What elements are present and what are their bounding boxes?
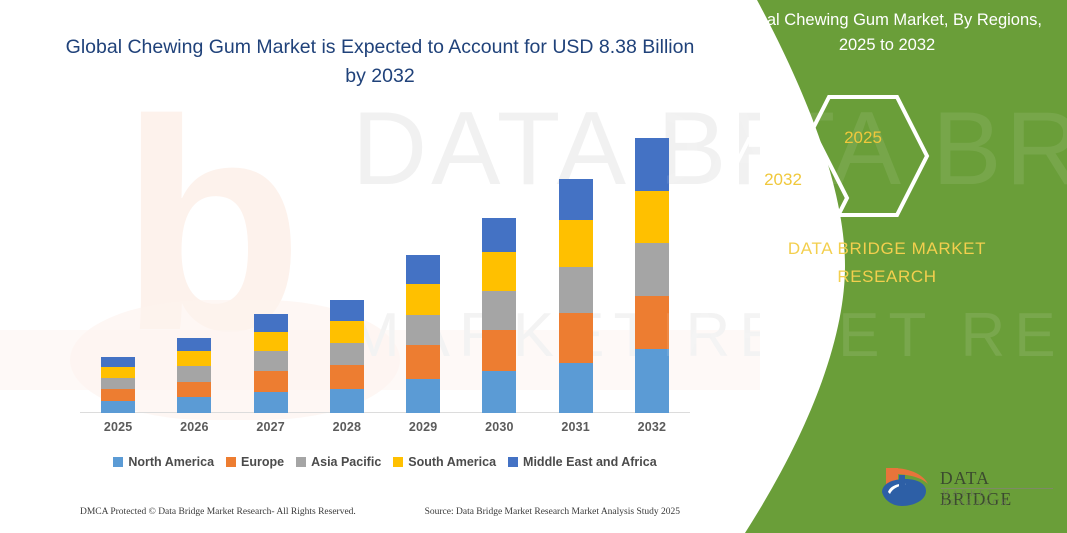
stacked-bar-2027 bbox=[254, 314, 288, 413]
page-title: Global Chewing Gum Market is Expected to… bbox=[60, 33, 700, 91]
bar-segment bbox=[254, 351, 288, 371]
stacked-bar-2032 bbox=[635, 138, 669, 413]
bar-segment bbox=[330, 300, 364, 321]
bar-column bbox=[83, 121, 153, 413]
logo-tagline: MARKET RESEARCH bbox=[942, 489, 1058, 507]
legend-label: Middle East and Africa bbox=[523, 455, 657, 469]
legend-item[interactable]: South America bbox=[393, 455, 496, 469]
bar-column bbox=[312, 121, 382, 413]
bar-segment bbox=[482, 252, 516, 291]
legend-item[interactable]: North America bbox=[113, 455, 214, 469]
x-axis-label-2031: 2031 bbox=[541, 420, 611, 442]
bar-segment bbox=[101, 357, 135, 367]
footer: DMCA Protected © Data Bridge Market Rese… bbox=[80, 507, 680, 517]
x-axis-label-2027: 2027 bbox=[236, 420, 306, 442]
bar-segment bbox=[406, 345, 440, 379]
footer-copyright: DMCA Protected © Data Bridge Market Rese… bbox=[80, 507, 356, 517]
bar-segment bbox=[482, 218, 516, 253]
legend-item[interactable]: Asia Pacific bbox=[296, 455, 381, 469]
bar-segment bbox=[559, 363, 593, 413]
chart-x-axis: 20252026202720282029203020312032 bbox=[80, 420, 690, 442]
right-green-panel: DATA BRIDGE MARKET RESEARCH Global Chewi… bbox=[667, 0, 1067, 533]
bar-column bbox=[236, 121, 306, 413]
bar-segment bbox=[406, 379, 440, 413]
stacked-bar-2028 bbox=[330, 300, 364, 413]
bar-segment bbox=[635, 191, 669, 243]
brand-name: DATA BRIDGE MARKET RESEARCH bbox=[727, 235, 1047, 291]
stacked-bar-2031 bbox=[559, 179, 593, 413]
bar-column bbox=[541, 121, 611, 413]
bar-segment bbox=[635, 296, 669, 349]
legend-swatch-icon bbox=[226, 457, 236, 467]
bar-segment bbox=[177, 338, 211, 352]
bar-segment bbox=[559, 313, 593, 363]
bar-segment bbox=[177, 397, 211, 413]
bar-column bbox=[159, 121, 229, 413]
bar-segment bbox=[559, 267, 593, 314]
x-axis-label-2029: 2029 bbox=[388, 420, 458, 442]
bar-segment bbox=[101, 378, 135, 389]
logo-mark-icon bbox=[878, 462, 936, 510]
bar-segment bbox=[177, 351, 211, 366]
panel-watermark-line-2: MARKET RESEARCH bbox=[667, 300, 1067, 371]
legend-label: Europe bbox=[241, 455, 284, 469]
stacked-bar-chart bbox=[80, 120, 690, 413]
x-axis-label-2030: 2030 bbox=[464, 420, 534, 442]
bar-segment bbox=[406, 284, 440, 315]
bar-segment bbox=[330, 343, 364, 365]
legend-label: Asia Pacific bbox=[311, 455, 381, 469]
legend-label: North America bbox=[128, 455, 214, 469]
legend-swatch-icon bbox=[508, 457, 518, 467]
legend-swatch-icon bbox=[113, 457, 123, 467]
bar-segment bbox=[254, 314, 288, 332]
data-bridge-logo: DATA BRIDGE MARKET RESEARCH bbox=[878, 462, 1058, 514]
legend-item[interactable]: Europe bbox=[226, 455, 284, 469]
bar-segment bbox=[177, 366, 211, 381]
bar-segment bbox=[559, 179, 593, 220]
bar-segment bbox=[330, 321, 364, 343]
panel-title: Global Chewing Gum Market, By Regions, 2… bbox=[727, 8, 1047, 58]
bar-segment bbox=[330, 389, 364, 413]
brand-line-1: DATA BRIDGE MARKET bbox=[727, 235, 1047, 263]
legend-swatch-icon bbox=[393, 457, 403, 467]
stacked-bar-2025 bbox=[101, 357, 135, 413]
x-axis-label-2026: 2026 bbox=[159, 420, 229, 442]
bar-segment bbox=[177, 382, 211, 398]
bar-segment bbox=[101, 367, 135, 378]
bar-segment bbox=[406, 315, 440, 346]
x-axis-label-2025: 2025 bbox=[83, 420, 153, 442]
bar-segment bbox=[482, 330, 516, 372]
brand-line-2: RESEARCH bbox=[727, 263, 1047, 291]
stacked-bar-2026 bbox=[177, 338, 211, 413]
bar-column bbox=[464, 121, 534, 413]
chart-plot-area bbox=[80, 121, 690, 413]
bar-segment bbox=[406, 255, 440, 284]
bar-segment bbox=[254, 332, 288, 352]
footer-source: Source: Data Bridge Market Research Mark… bbox=[425, 507, 680, 517]
hexagon-2032-label: 2032 bbox=[715, 170, 851, 190]
infographic-root: b DATA BRIDGE MARKET RESEARCH Global Che… bbox=[0, 0, 1067, 533]
bar-segment bbox=[635, 349, 669, 413]
legend-swatch-icon bbox=[296, 457, 306, 467]
stacked-bar-2029 bbox=[406, 255, 440, 413]
bar-segment bbox=[254, 371, 288, 392]
stacked-bar-2030 bbox=[482, 218, 516, 413]
bar-segment bbox=[482, 291, 516, 330]
bar-segment bbox=[101, 401, 135, 413]
bar-column bbox=[388, 121, 458, 413]
bar-segment bbox=[101, 389, 135, 401]
bar-segment bbox=[482, 371, 516, 413]
bar-segment bbox=[330, 365, 364, 389]
bar-segment bbox=[559, 220, 593, 267]
x-axis-label-2028: 2028 bbox=[312, 420, 382, 442]
legend-label: South America bbox=[408, 455, 496, 469]
chart-legend: North AmericaEuropeAsia PacificSouth Ame… bbox=[80, 455, 690, 469]
bar-segment bbox=[635, 138, 669, 191]
bar-segment bbox=[254, 392, 288, 413]
legend-item[interactable]: Middle East and Africa bbox=[508, 455, 657, 469]
bar-segment bbox=[635, 243, 669, 295]
